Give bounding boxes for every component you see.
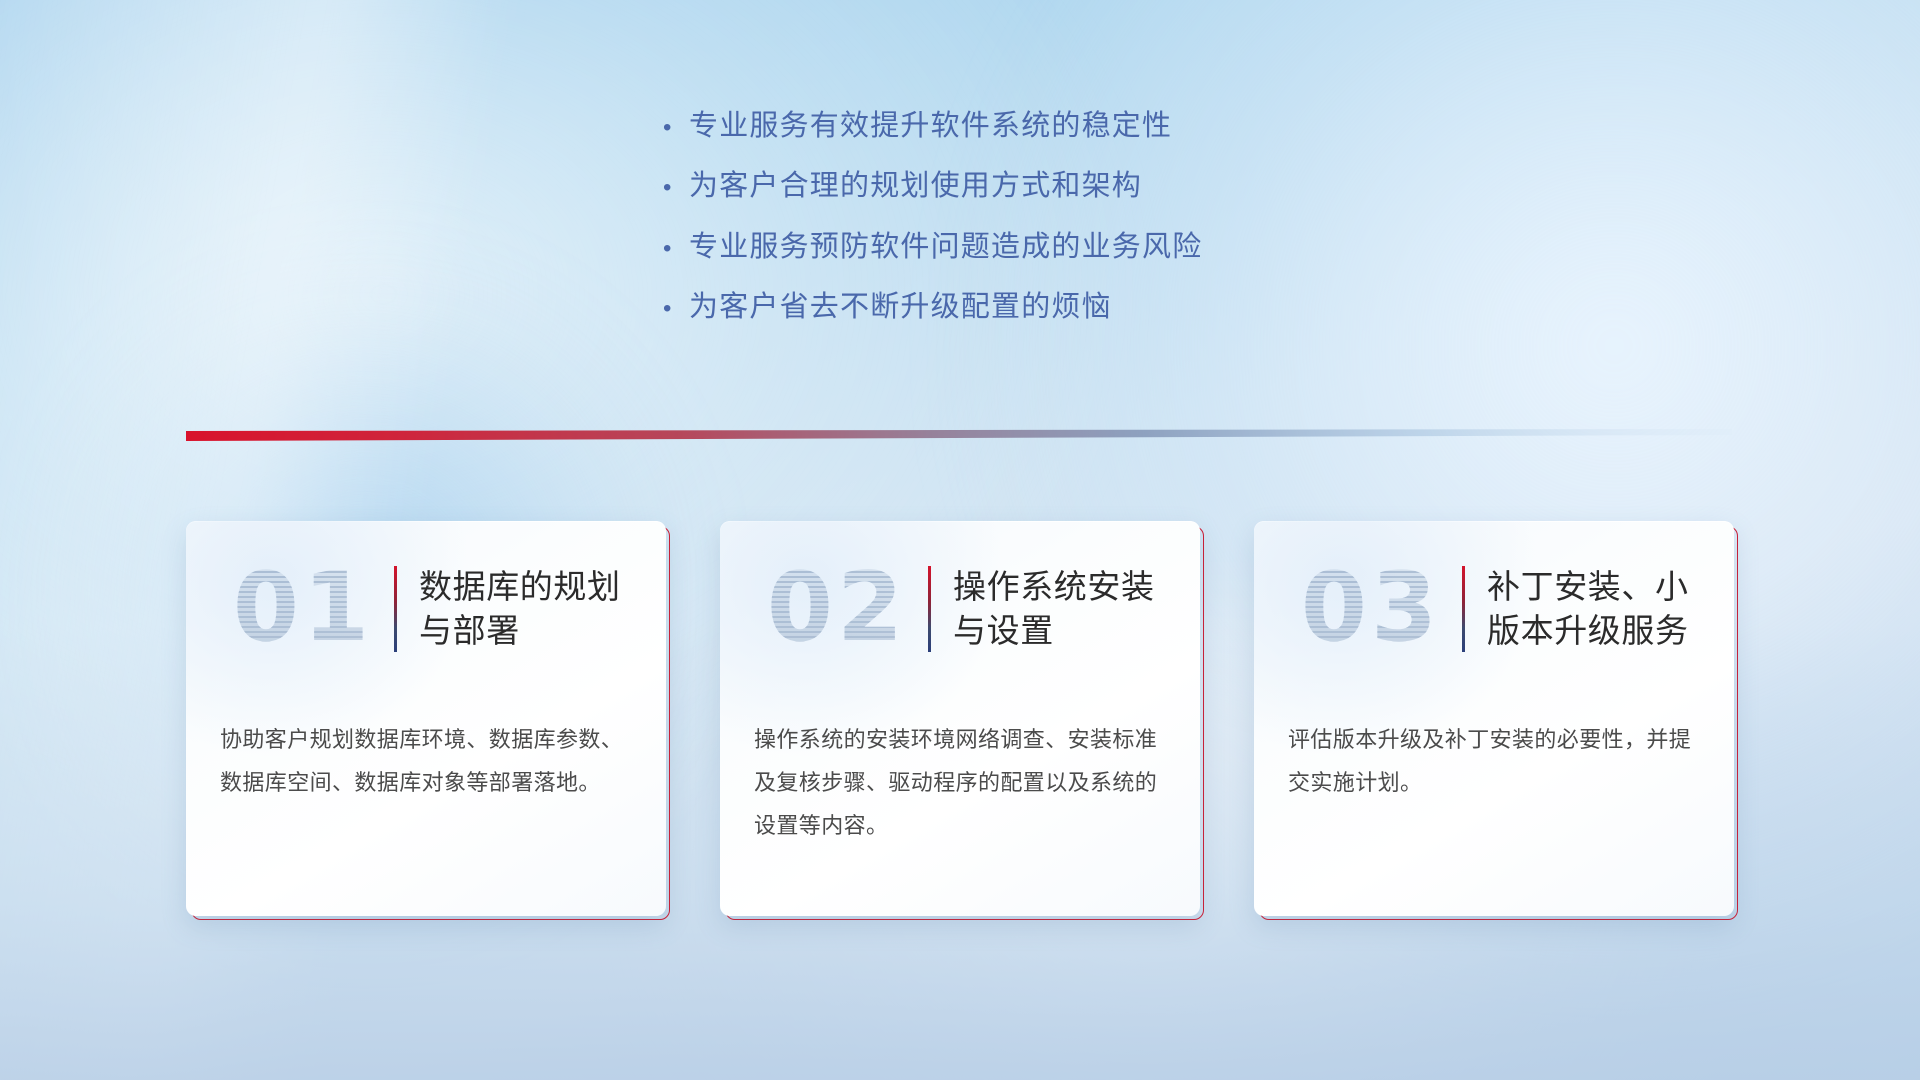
bullet-list: 专业服务有效提升软件系统的稳定性 为客户合理的规划使用方式和架构 专业服务预防软…: [663, 108, 1423, 349]
card-divider-rule: [394, 566, 397, 652]
service-card-01[interactable]: 01 数据库的规划与部署 协助客户规划数据库环境、数据库参数、数据库空间、数据库…: [186, 521, 666, 916]
card-number: 03: [1301, 561, 1441, 656]
card-divider-rule: [928, 566, 931, 652]
card-title: 数据库的规划与部署: [419, 565, 666, 652]
bullet-text: 专业服务有效提升软件系统的稳定性: [689, 108, 1172, 144]
service-card-03[interactable]: 03 补丁安装、小版本升级服务 评估版本升级及补丁安装的必要性，并提交实施计划。: [1254, 521, 1734, 916]
card-divider-rule: [1462, 566, 1465, 652]
list-item: 为客户合理的规划使用方式和架构: [663, 168, 1423, 204]
divider-shape: [186, 428, 1732, 446]
card-number: 02: [767, 561, 907, 656]
service-card-02[interactable]: 02 操作系统安装与设置 操作系统的安装环境网络调查、安装标准及复核步骤、驱动程…: [720, 521, 1200, 916]
section-divider: [186, 428, 1732, 446]
list-item: 专业服务有效提升软件系统的稳定性: [663, 108, 1423, 144]
card-title: 补丁安装、小版本升级服务: [1487, 565, 1734, 652]
card-description: 评估版本升级及补丁安装的必要性，并提交实施计划。: [1288, 719, 1704, 805]
bullet-text: 为客户省去不断升级配置的烦恼: [689, 289, 1112, 325]
card-number-badge: 03: [1280, 554, 1462, 664]
card-number-badge: 01: [212, 554, 394, 664]
bullet-text: 专业服务预防软件问题造成的业务风险: [689, 229, 1202, 265]
card-number-badge: 02: [746, 554, 928, 664]
bullet-dot-icon: [663, 116, 689, 140]
bullet-dot-icon: [663, 176, 689, 200]
bullet-text: 为客户合理的规划使用方式和架构: [689, 168, 1142, 204]
card-header: 02 操作系统安装与设置: [720, 521, 1200, 696]
bullet-dot-icon: [663, 237, 689, 261]
card-number: 01: [233, 561, 373, 656]
card-surface: 03 补丁安装、小版本升级服务 评估版本升级及补丁安装的必要性，并提交实施计划。: [1254, 521, 1734, 916]
card-surface: 01 数据库的规划与部署 协助客户规划数据库环境、数据库参数、数据库空间、数据库…: [186, 521, 666, 916]
card-header: 01 数据库的规划与部署: [186, 521, 666, 696]
card-description: 操作系统的安装环境网络调查、安装标准及复核步骤、驱动程序的配置以及系统的设置等内…: [754, 719, 1170, 848]
list-item: 专业服务预防软件问题造成的业务风险: [663, 229, 1423, 265]
card-header: 03 补丁安装、小版本升级服务: [1254, 521, 1734, 696]
card-surface: 02 操作系统安装与设置 操作系统的安装环境网络调查、安装标准及复核步骤、驱动程…: [720, 521, 1200, 916]
card-description: 协助客户规划数据库环境、数据库参数、数据库空间、数据库对象等部署落地。: [220, 719, 636, 805]
list-item: 为客户省去不断升级配置的烦恼: [663, 289, 1423, 325]
card-row: 01 数据库的规划与部署 协助客户规划数据库环境、数据库参数、数据库空间、数据库…: [186, 521, 1734, 921]
card-title: 操作系统安装与设置: [953, 565, 1200, 652]
bullet-dot-icon: [663, 297, 689, 321]
